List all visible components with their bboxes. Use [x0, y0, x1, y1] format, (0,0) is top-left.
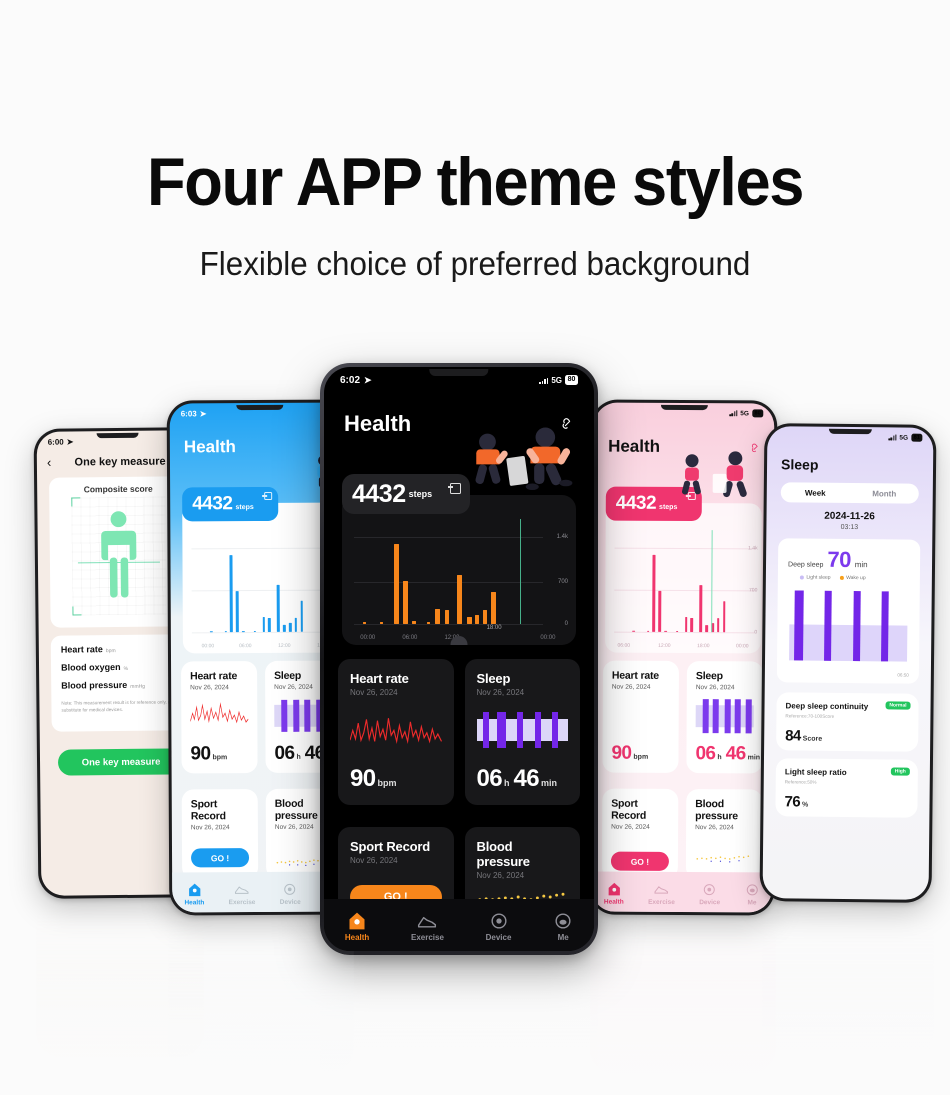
chart-bar: [632, 630, 635, 631]
card-heart-rate[interactable]: Heart rate Nov 26, 2024 90 bpm: [181, 661, 258, 773]
stat-value: 84 Score: [785, 727, 822, 744]
steps-chart-card: 00:00 06:00 12:00 18:00: [182, 503, 339, 654]
body-figure-icon: [93, 503, 144, 608]
chart-bar: [210, 631, 213, 632]
chart-bar: [664, 630, 667, 631]
metric-unit: bpm: [106, 648, 116, 654]
x-tick: 18:00: [697, 643, 710, 649]
card-heart-rate[interactable]: Heart rate Nov 26, 2024 90 bpm: [338, 659, 454, 805]
go-button[interactable]: GO !: [611, 852, 669, 871]
metric-label: Blood pressure: [61, 680, 127, 691]
phone-notch: [97, 433, 139, 438]
page-subtitle: Flexible choice of preferred background: [24, 245, 927, 283]
nav-item-me[interactable]: Me: [553, 911, 573, 942]
card-heart-rate[interactable]: Heart rate Nov 26, 2024 90 bpm: [602, 661, 679, 773]
signal-icon: [539, 376, 548, 384]
card-date: Nov 26, 2024: [477, 871, 569, 880]
link-icon[interactable]: [749, 441, 762, 454]
card-blood-pressure[interactable]: Blood pressure Nov 26, 2024: [686, 789, 762, 879]
legend-wake-up: Wake up: [846, 575, 866, 581]
home-icon: [606, 881, 621, 896]
status-time: 6:03: [181, 409, 197, 418]
card-title: Sport Record: [611, 798, 669, 822]
steps-value: 4432: [192, 493, 232, 515]
chart-bar: [705, 625, 708, 632]
card-date: Nov 26, 2024: [612, 684, 670, 691]
x-tick: 12:00: [278, 643, 291, 649]
stat-reference: Reference:70-100Score: [785, 713, 909, 719]
chart-bar: [653, 554, 656, 631]
status-right: 5G 80: [730, 409, 764, 417]
sleep-chart: [789, 590, 908, 661]
metric-cards: Heart rate Nov 26, 2024 90 bpm Sleep Nov…: [602, 661, 763, 880]
chart-handle[interactable]: [451, 636, 468, 645]
sleep-bars: [696, 705, 754, 727]
deep-sleep-card: Deep sleep 70 min Light sleep Wake up: [777, 538, 921, 683]
y-tick: 1.4k: [748, 545, 757, 551]
phone-notch: [829, 429, 872, 434]
nav-item-health[interactable]: Health: [184, 882, 204, 906]
chart-bar: [254, 631, 257, 632]
x-tick: 18:00: [487, 625, 502, 631]
card-value: 90 bpm: [190, 743, 227, 765]
status-badge: Normal: [885, 701, 910, 709]
card-sleep[interactable]: Sleep Nov 26, 2024 06 h 46 min: [465, 659, 581, 805]
card-date: Nov 26, 2024: [477, 688, 569, 697]
one-key-measure-button[interactable]: One key measure: [58, 748, 184, 775]
card-title: Sport Record: [191, 798, 249, 822]
now-line: [520, 519, 521, 624]
steps-pill[interactable]: 4432 steps: [342, 474, 470, 514]
y-tick: 700: [749, 587, 757, 593]
card-date: Nov 26, 2024: [611, 824, 669, 831]
network-label: 5G: [899, 434, 908, 441]
x-tick: 06:00: [618, 643, 631, 649]
stat-reference: Reference:50%: [785, 779, 909, 785]
card-date: Nov 26, 2024: [190, 684, 248, 691]
status-time: 6:02: [340, 375, 360, 386]
shoe-icon: [654, 881, 669, 896]
nav-item-health[interactable]: Health: [604, 881, 624, 905]
watch-icon: [702, 882, 717, 897]
link-icon[interactable]: [559, 415, 576, 432]
chart-bar: [224, 631, 227, 632]
person-icon: [553, 911, 573, 931]
card-title: Sport Record: [350, 839, 442, 854]
bottom-nav: Health Exercise Device Me: [324, 899, 594, 951]
phone-notch: [661, 405, 708, 410]
phone-dark: 6:02 ➤ 5G 80 Health: [320, 363, 598, 955]
y-tick: 1.4k: [557, 534, 568, 540]
chart-bar: [230, 555, 233, 632]
watch-icon: [489, 911, 509, 931]
bars-pink: [614, 548, 755, 633]
network-label: 5G: [551, 376, 562, 385]
chart-bar: [242, 631, 245, 632]
metric-label: Heart rate: [61, 644, 103, 654]
home-icon: [347, 911, 367, 931]
battery-icon: 81: [911, 434, 922, 442]
card-title: Sleep: [477, 671, 569, 686]
card-date: Nov 26, 2024: [695, 824, 753, 831]
expand-icon[interactable]: [264, 492, 272, 500]
phone-pink: 5G 80 Health 4432 steps: [589, 400, 778, 916]
card-value: 06 h 46 min: [695, 743, 760, 765]
chart-bar: [647, 631, 650, 632]
card-title: Heart rate: [612, 670, 670, 682]
x-tick: 06:00: [402, 635, 417, 641]
tab-week[interactable]: Week: [781, 488, 850, 498]
nav-item-me[interactable]: Me: [744, 882, 759, 906]
deep-sleep-unit: min: [855, 560, 868, 569]
card-value: 90 bpm: [611, 743, 648, 765]
sleep-date: 2024-11-26: [766, 510, 932, 523]
x-tick: 06:00: [239, 643, 252, 649]
go-button[interactable]: GO !: [191, 848, 249, 867]
chart-bar: [658, 590, 661, 631]
sleep-bars: [477, 719, 569, 741]
nav-item-exercise[interactable]: Exercise: [648, 881, 675, 905]
shoe-icon: [234, 882, 249, 897]
nav-item-device[interactable]: Device: [280, 881, 301, 905]
screen-title: Health: [344, 411, 411, 437]
y-tick: 0: [565, 621, 568, 627]
nav-item-exercise[interactable]: Exercise: [229, 882, 256, 906]
steps-chart-card: 1.4k 700 0 00:00 06:00 12:00 18:00 00:00: [342, 495, 576, 645]
card-date: Nov 26, 2024: [191, 824, 249, 831]
chart-bar: [723, 601, 726, 632]
status-right: 5G 81: [889, 433, 923, 441]
chart-bar: [717, 618, 720, 632]
screen-title: Health: [184, 437, 236, 457]
steps-chart-card: 1.4k 700 0 06:00 12:00 18:00 00:00: [605, 503, 762, 654]
card-value: 90 bpm: [350, 765, 397, 793]
period-tabs[interactable]: Week Month: [781, 482, 919, 503]
runner-illustration: [666, 447, 770, 510]
steps-value: 4432: [352, 480, 406, 509]
page-title: Four APP theme styles: [33, 148, 917, 216]
chart-bar: [691, 618, 694, 632]
card-title: Heart rate: [350, 671, 442, 686]
home-icon: [187, 882, 202, 897]
signal-icon: [730, 410, 738, 416]
network-label: 5G: [740, 410, 749, 417]
card-date: Nov 26, 2024: [350, 688, 442, 697]
heart-rate-sparkline: [350, 711, 442, 745]
x-tick: 00:00: [360, 635, 375, 641]
nav-item-device[interactable]: Device: [486, 911, 512, 942]
signal-icon: [889, 434, 897, 440]
sleep-stats: Normal Deep sleep continuity Reference:7…: [775, 692, 918, 817]
y-tick: 700: [558, 579, 568, 585]
card-date: Nov 26, 2024: [696, 684, 754, 691]
promo-stage: Four APP theme styles Flexible choice of…: [0, 0, 950, 1095]
chart-bar: [300, 601, 303, 632]
screen-title: Health: [608, 437, 660, 457]
tab-month[interactable]: Month: [850, 489, 919, 499]
screen-title: Sleep: [781, 456, 819, 472]
card-sleep[interactable]: Sleep Nov 26, 2024 06 h 46 min: [686, 661, 763, 773]
chart-bar: [295, 618, 298, 632]
chart-bar: [262, 617, 265, 632]
chart-bar: [289, 623, 292, 632]
phone-notch: [236, 405, 283, 410]
x-tick: 00:00: [540, 635, 555, 641]
card-title: Blood pressure: [477, 839, 569, 869]
metric-unit: %: [124, 666, 129, 672]
x-tick: 12:00: [658, 643, 671, 649]
chart-bar: [676, 631, 679, 632]
card-title: Heart rate: [190, 670, 248, 682]
chart-bar: [283, 625, 286, 632]
nav-item-device[interactable]: Device: [699, 882, 720, 906]
steps-unit: steps: [409, 489, 433, 499]
battery-icon: 80: [752, 409, 763, 417]
x-tick: 00:00: [736, 643, 749, 649]
bars-blue: [192, 548, 333, 633]
y-tick: 0: [754, 629, 757, 635]
metric-cards: Heart rate Nov 26, 2024 90 bpm Sleep Nov…: [338, 659, 580, 931]
steps-pill[interactable]: 4432 steps: [182, 487, 278, 522]
nav-item-health[interactable]: Health: [345, 911, 369, 942]
person-icon: [745, 882, 760, 897]
chart-bar: [277, 585, 280, 632]
metric-cards: Heart rate Nov 26, 2024 90 bpm Sleep Nov…: [181, 661, 342, 880]
card-title: Blood pressure: [695, 798, 753, 822]
card-title: Sleep: [696, 670, 754, 682]
stat-title: Deep sleep continuity: [785, 701, 874, 712]
sleep-axis-label: 06:50: [897, 673, 909, 678]
steps-unit: steps: [235, 504, 253, 511]
status-right: 5G 80: [539, 375, 578, 385]
runner-illustration: [452, 425, 592, 500]
reflection-fade: [0, 965, 950, 1095]
stat-value: 76 %: [784, 793, 808, 810]
chart-bar: [268, 618, 271, 632]
steps-value: 4432: [616, 493, 656, 515]
card-value: 06 h 46 min: [477, 765, 558, 793]
status-badge: High: [891, 767, 910, 775]
location-icon: ➤: [200, 409, 207, 418]
deep-sleep-value: 70: [827, 547, 851, 573]
battery-icon: 80: [565, 375, 578, 385]
measure-note: Note: This measurement result is for ref…: [61, 698, 179, 713]
shoe-icon: [417, 911, 437, 931]
phone-sleep: 5G 81 Sleep Week Month 2024-11-26 03:13 …: [760, 423, 937, 903]
bottom-nav: Health Exercise Device Me: [592, 872, 772, 913]
chart-bar: [236, 591, 239, 632]
card-light-sleep-ratio[interactable]: High Light sleep ratio Reference:50% 76 …: [775, 758, 918, 817]
legend-light-sleep: Light sleep: [806, 575, 830, 581]
blood-pressure-dots: [695, 849, 753, 865]
phone-notch: [429, 369, 488, 376]
card-date: Nov 26, 2024: [350, 856, 442, 865]
card-deep-sleep-continuity[interactable]: Normal Deep sleep continuity Reference:7…: [776, 692, 919, 751]
location-icon: ➤: [67, 437, 74, 446]
chart-bar: [685, 617, 688, 632]
metric-unit: mmHg: [130, 684, 145, 690]
deep-sleep-label: Deep sleep: [788, 561, 823, 568]
location-icon: ➤: [364, 375, 372, 386]
card-sport-record[interactable]: Sport Record Nov 26, 2024 GO !: [182, 789, 258, 879]
x-tick: 00:00: [202, 643, 215, 649]
card-sport-record[interactable]: Sport Record Nov 26, 2024 GO !: [602, 789, 678, 879]
status-time: 6:00: [48, 437, 64, 446]
chart-bar: [699, 585, 702, 632]
heart-rate-sparkline: [190, 699, 248, 725]
watch-icon: [283, 881, 298, 896]
nav-item-exercise[interactable]: Exercise: [411, 911, 444, 942]
metric-label: Blood oxygen: [61, 662, 121, 673]
sleep-time: 03:13: [766, 523, 932, 532]
stat-title: Light sleep ratio: [785, 767, 874, 778]
steps-bars: [354, 537, 544, 624]
